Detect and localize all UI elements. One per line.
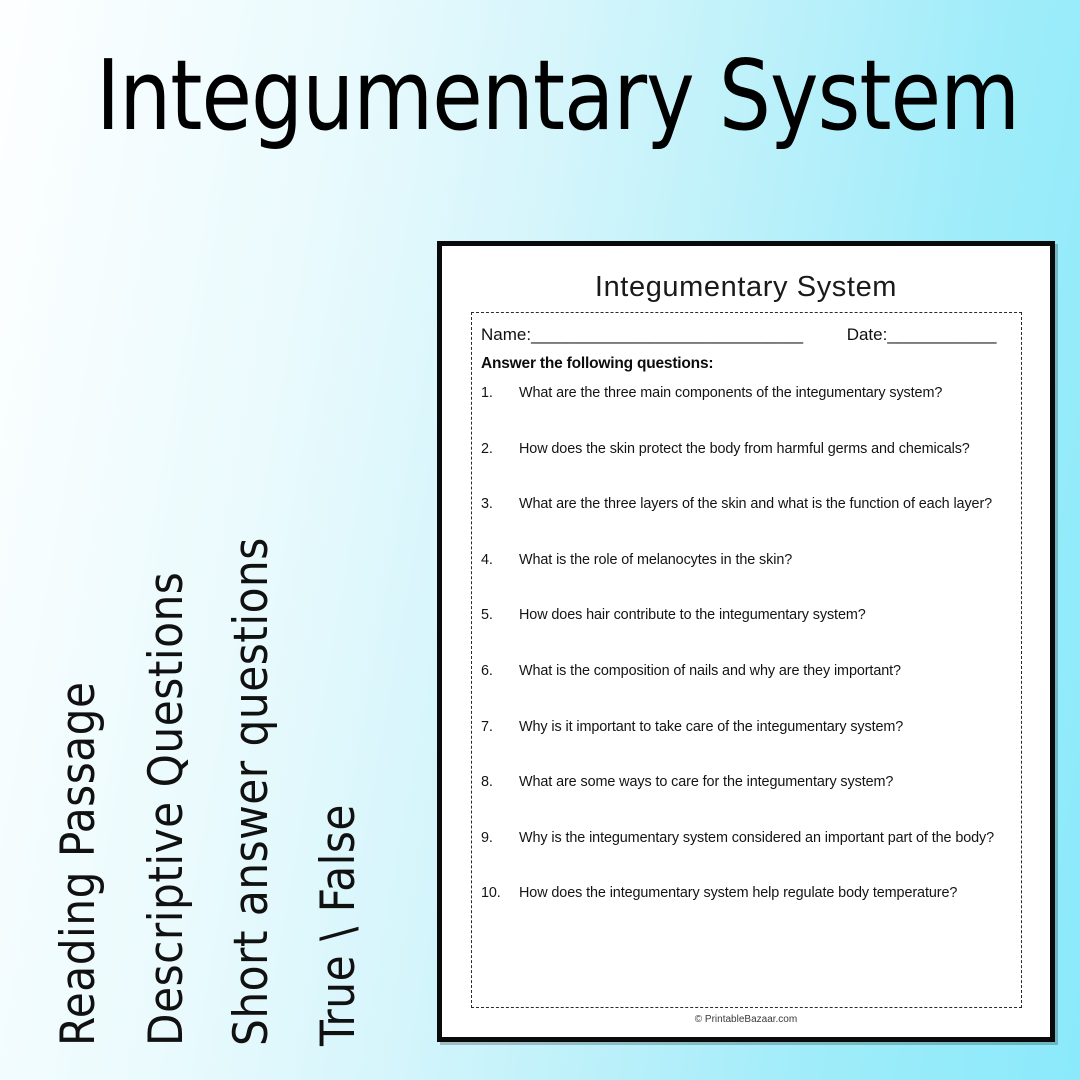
worksheet-dashed-content-box: Name:______________________________ Date…	[471, 312, 1022, 1008]
question-number: 10.	[481, 885, 519, 901]
question-text: How does hair contribute to the integume…	[519, 607, 1007, 623]
date-write-line: ____________	[887, 325, 996, 344]
question-number: 7.	[481, 719, 519, 735]
feature-label-short-answer-questions: Short answer questions	[228, 537, 275, 1046]
question-number: 3.	[481, 496, 519, 512]
date-field[interactable]: Date:____________	[847, 325, 996, 345]
question-row: 3.What are the three layers of the skin …	[481, 496, 1007, 552]
page-title: Integumentary System	[96, 47, 1019, 144]
question-number: 1.	[481, 385, 519, 401]
date-label: Date:	[847, 325, 888, 344]
question-number: 9.	[481, 830, 519, 846]
question-row: 9.Why is the integumentary system consid…	[481, 830, 1007, 886]
question-number: 2.	[481, 441, 519, 457]
question-text: Why is it important to take care of the …	[519, 719, 1007, 735]
question-row: 5.How does hair contribute to the integu…	[481, 607, 1007, 663]
question-row: 8.What are some ways to care for the int…	[481, 774, 1007, 830]
question-text: What is the composition of nails and why…	[519, 663, 1007, 679]
question-number: 8.	[481, 774, 519, 790]
question-number: 6.	[481, 663, 519, 679]
question-row: 4.What is the role of melanocytes in the…	[481, 552, 1007, 608]
question-number: 4.	[481, 552, 519, 568]
name-field[interactable]: Name:______________________________	[481, 325, 803, 345]
question-list: 1.What are the three main components of …	[481, 385, 1007, 941]
question-text: Why is the integumentary system consider…	[519, 830, 1007, 846]
worksheet-title: Integumentary System	[442, 271, 1050, 304]
question-text: How does the skin protect the body from …	[519, 441, 1007, 457]
name-write-line: ______________________________	[531, 325, 803, 344]
feature-label-reading-passage: Reading Passage	[55, 681, 102, 1046]
question-text: How does the integumentary system help r…	[519, 885, 1007, 901]
question-row: 6.What is the composition of nails and w…	[481, 663, 1007, 719]
question-row: 1.What are the three main components of …	[481, 385, 1007, 441]
question-number: 5.	[481, 607, 519, 623]
question-text: What are some ways to care for the integ…	[519, 774, 1007, 790]
question-text: What is the role of melanocytes in the s…	[519, 552, 1007, 568]
feature-label-descriptive-questions: Descriptive Questions	[143, 572, 190, 1046]
question-text: What are the three main components of th…	[519, 385, 1007, 401]
question-row: 10.How does the integumentary system hel…	[481, 885, 1007, 941]
question-text: What are the three layers of the skin an…	[519, 496, 1007, 512]
answer-instruction: Answer the following questions:	[481, 355, 713, 373]
name-date-row: Name:______________________________ Date…	[481, 325, 1012, 351]
worksheet-credit: © PrintableBazaar.com	[442, 1014, 1050, 1025]
question-row: 2.How does the skin protect the body fro…	[481, 441, 1007, 497]
poster-canvas: Integumentary System Reading Passage Des…	[0, 0, 1080, 1080]
worksheet-preview: Integumentary System Name:______________…	[437, 241, 1055, 1042]
feature-label-true-false: True \ False	[315, 804, 362, 1046]
name-label: Name:	[481, 325, 531, 344]
question-row: 7.Why is it important to take care of th…	[481, 719, 1007, 775]
